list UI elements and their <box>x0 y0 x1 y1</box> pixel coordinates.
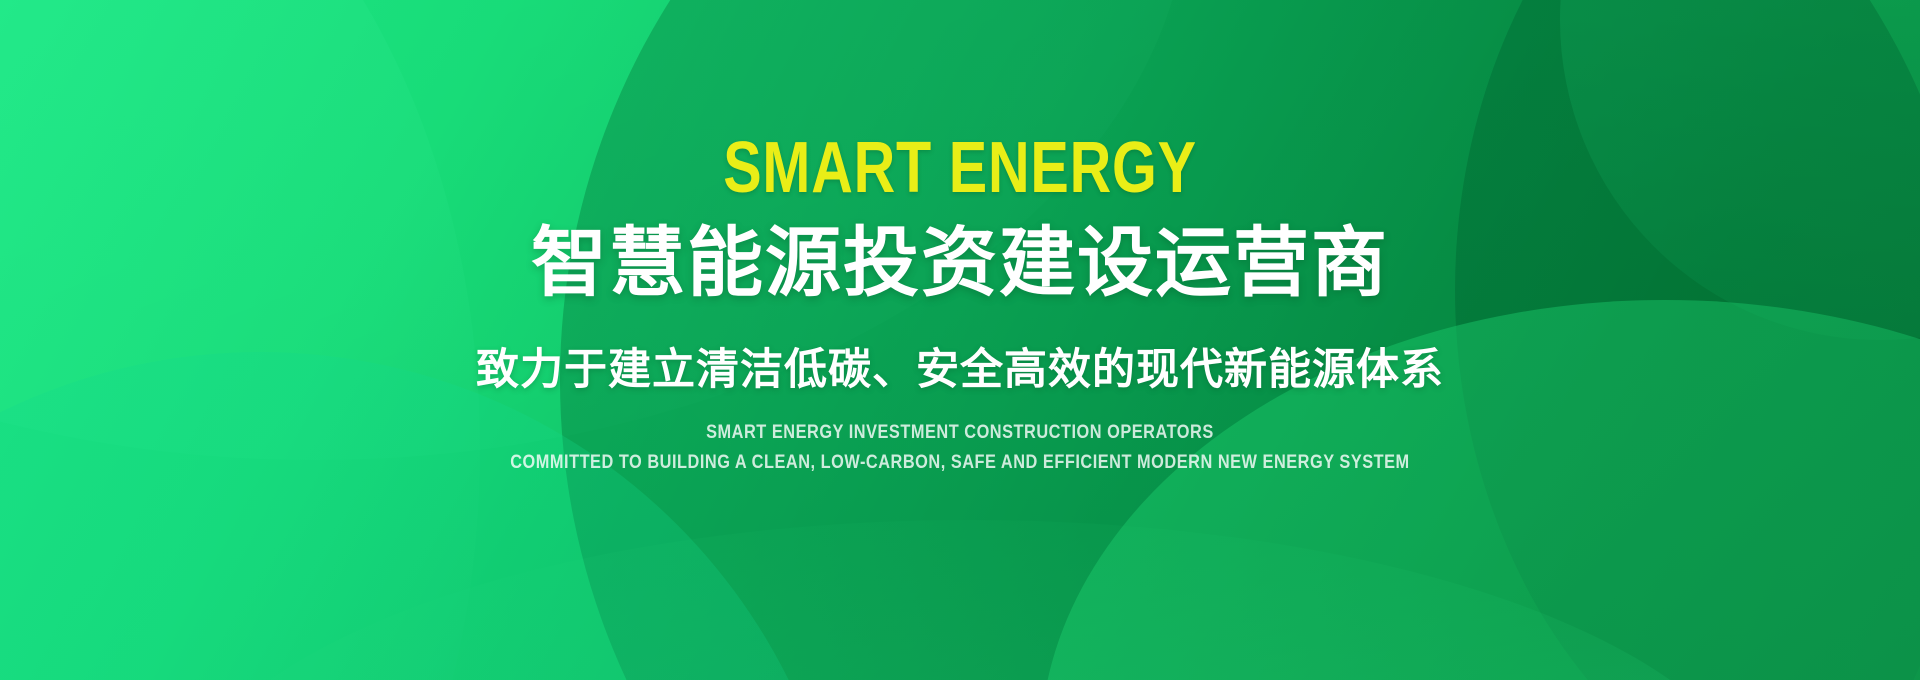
subtitle-english-block: SMART ENERGY INVESTMENT CONSTRUCTION OPE… <box>437 420 1483 475</box>
headline-chinese: 智慧能源投资建设运营商 <box>531 224 1389 303</box>
banner-content: SMART ENERGY 智慧能源投资建设运营商 致力于建立清洁低碳、安全高效的… <box>0 0 1920 680</box>
subtitle-english-line-1: SMART ENERGY INVESTMENT CONSTRUCTION OPE… <box>510 420 1409 446</box>
subtitle-english-line-2: COMMITTED TO BUILDING A CLEAN, LOW-CARBO… <box>510 450 1409 476</box>
hero-banner: SMART ENERGY 智慧能源投资建设运营商 致力于建立清洁低碳、安全高效的… <box>0 0 1920 680</box>
subheadline-chinese: 致力于建立清洁低碳、安全高效的现代新能源体系 <box>476 347 1444 394</box>
headline-english: SMART ENERGY <box>723 132 1197 204</box>
